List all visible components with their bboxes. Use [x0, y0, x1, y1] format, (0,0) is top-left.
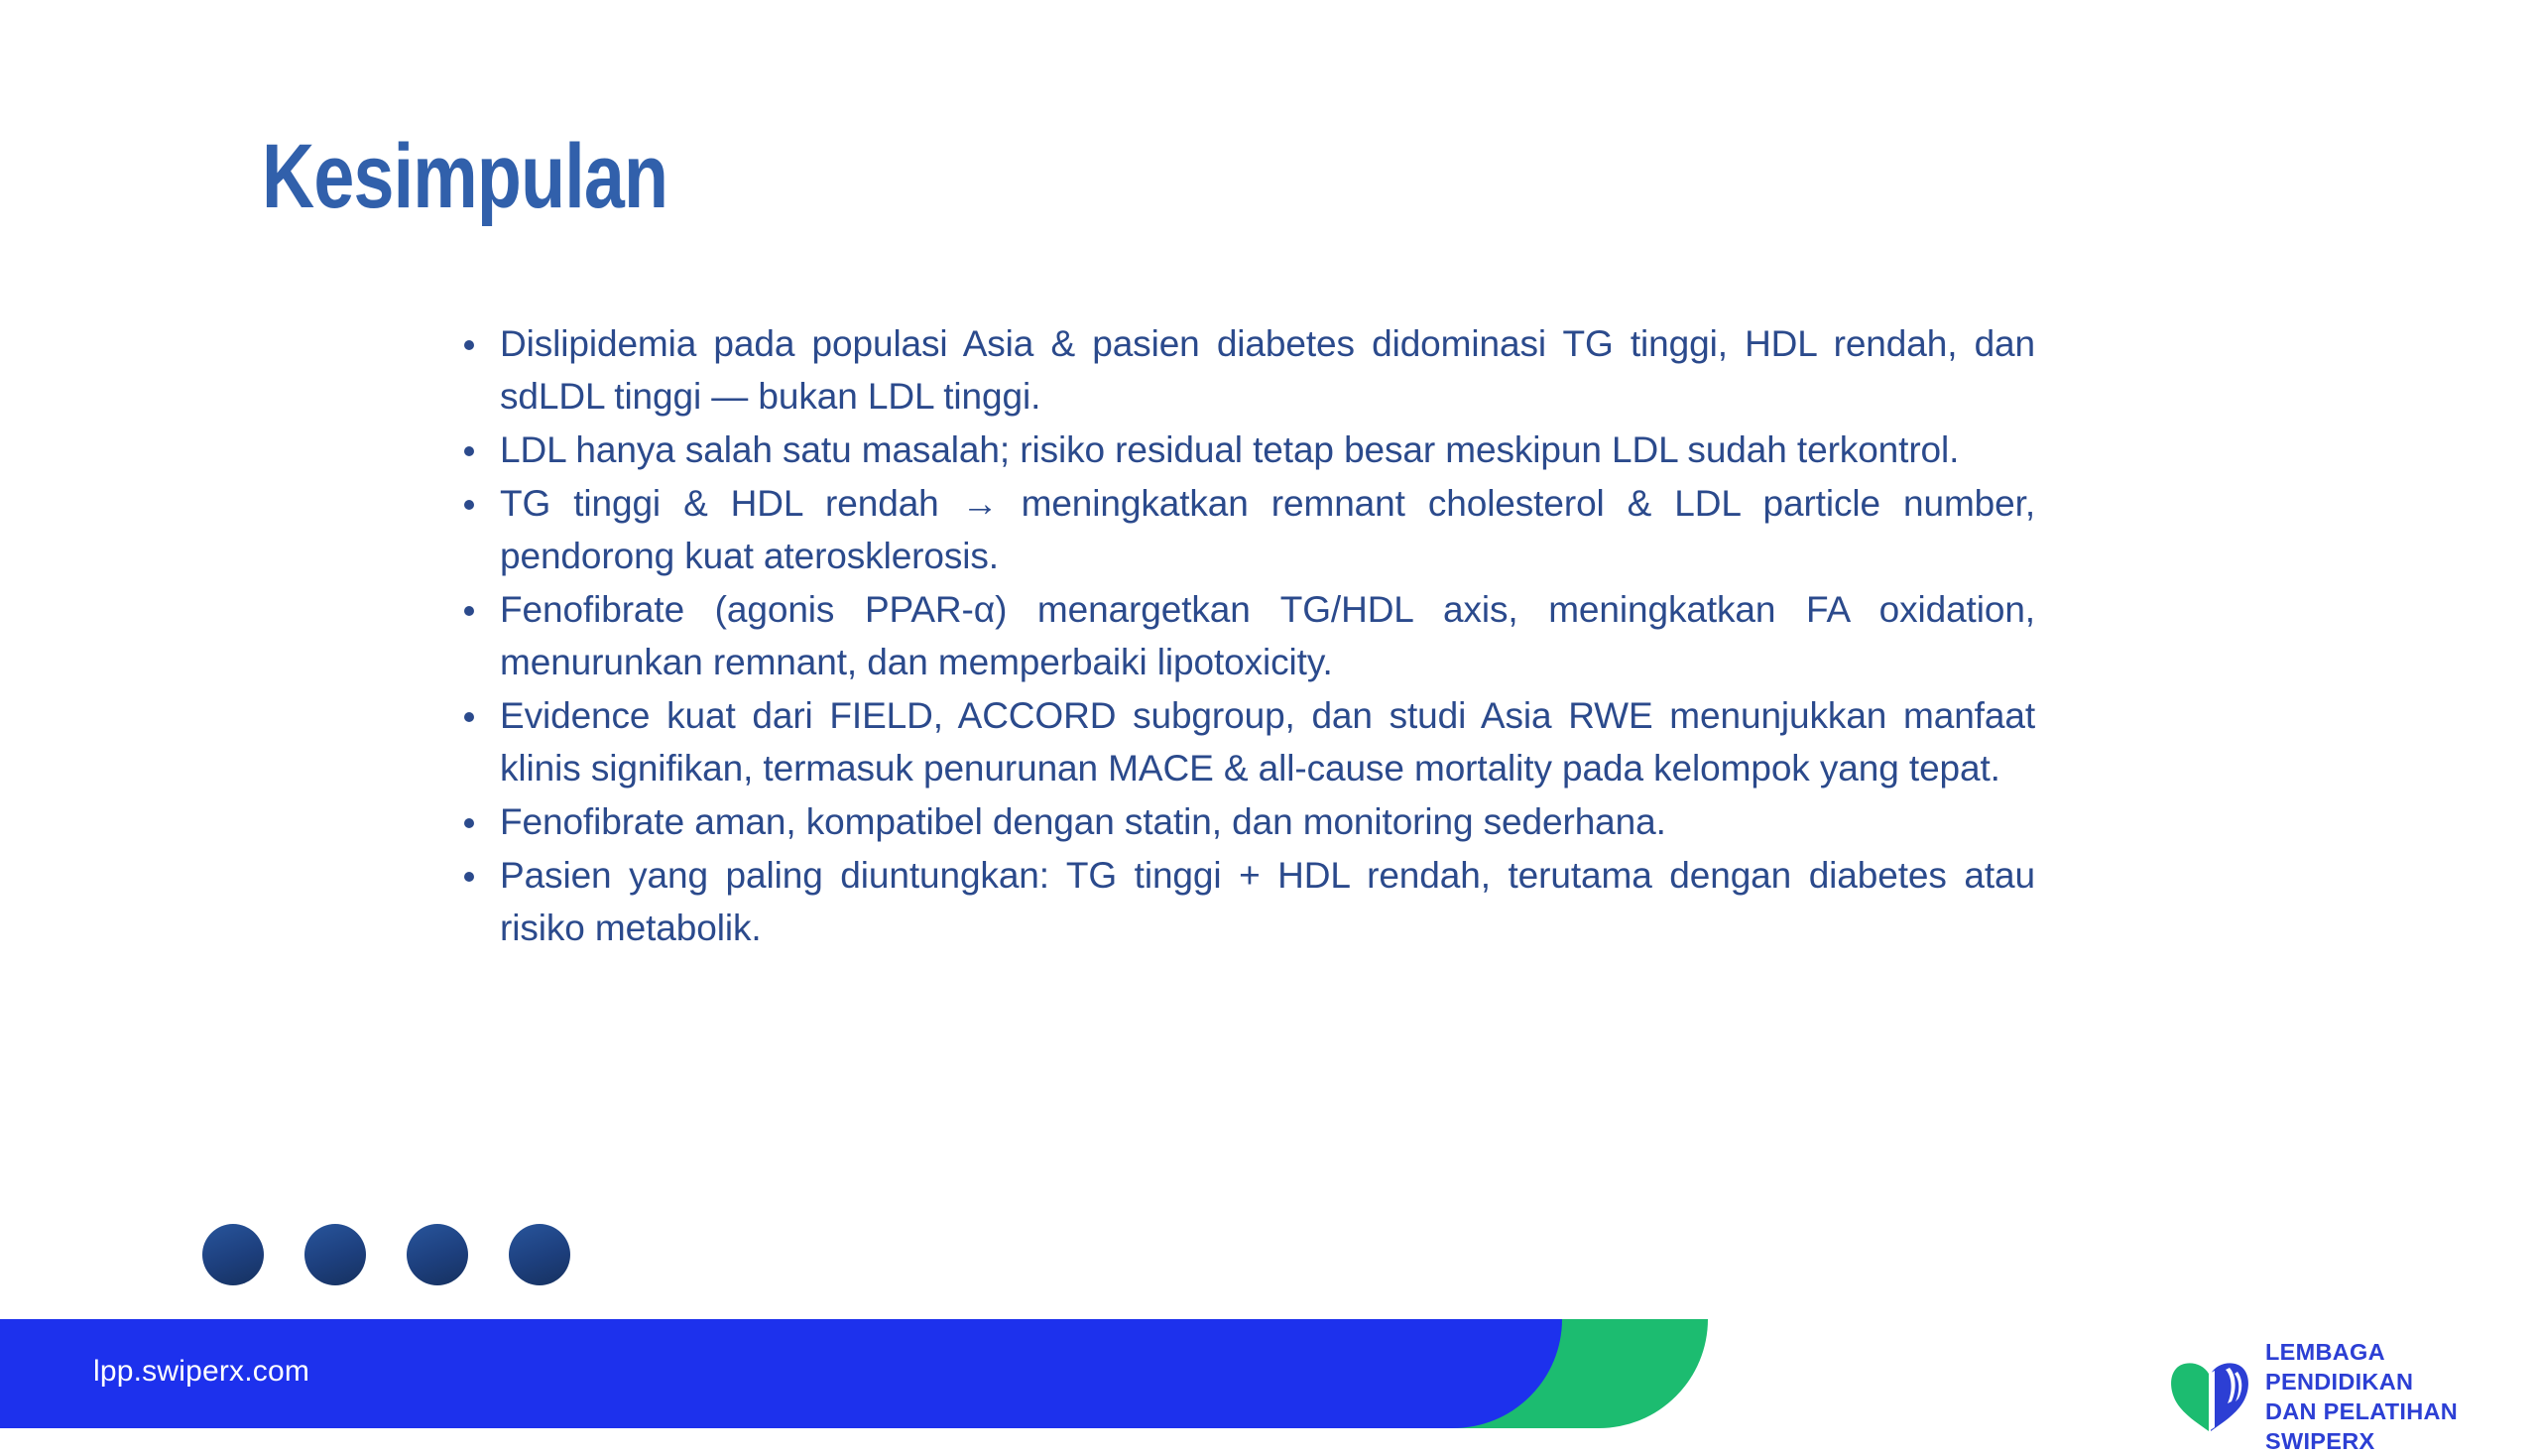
list-item-text: Evidence kuat dari FIELD, ACCORD subgrou… [500, 695, 2035, 789]
list-item: Evidence kuat dari FIELD, ACCORD subgrou… [448, 689, 2035, 794]
list-item-text: Fenofibrate (agonis PPAR-α) menargetkan … [500, 589, 2035, 682]
list-item-text: Dislipidemia pada populasi Asia & pasien… [500, 323, 2035, 417]
list-item: Fenofibrate (agonis PPAR-α) menargetkan … [448, 583, 2035, 688]
footer-bar: lpp.swiperx.com [0, 1319, 2539, 1428]
logo-line-1: LEMBAGA PENDIDIKAN [2265, 1337, 2539, 1396]
list-item-text: TG tinggi & HDL rendah → meningkatkan re… [500, 483, 2035, 576]
list-item: TG tinggi & HDL rendah → meningkatkan re… [448, 477, 2035, 582]
list-item: LDL hanya salah satu masalah; risiko res… [448, 424, 2035, 476]
decorative-dot [202, 1224, 264, 1285]
decorative-dots [202, 1224, 570, 1285]
decorative-dot [509, 1224, 570, 1285]
page-title: Kesimpulan [262, 127, 667, 227]
list-item: Dislipidemia pada populasi Asia & pasien… [448, 317, 2035, 423]
list-item-text: Fenofibrate aman, kompatibel dengan stat… [500, 801, 1666, 842]
book-heart-logo-icon [2168, 1358, 2251, 1435]
decorative-dot [304, 1224, 366, 1285]
list-item-text: Pasien yang paling diuntungkan: TG tingg… [500, 855, 2035, 948]
decorative-dot [407, 1224, 468, 1285]
logo-line-2: DAN PELATIHAN SWIPERX [2265, 1396, 2539, 1456]
footer-website-url: lpp.swiperx.com [93, 1355, 309, 1389]
list-item: Pasien yang paling diuntungkan: TG tingg… [448, 849, 2035, 954]
list-item: Fenofibrate aman, kompatibel dengan stat… [448, 795, 2035, 848]
list-item-text: LDL hanya salah satu masalah; risiko res… [500, 429, 1959, 470]
brand-logo: LEMBAGA PENDIDIKAN DAN PELATIHAN SWIPERX [2168, 1337, 2539, 1456]
conclusion-bullet-list: Dislipidemia pada populasi Asia & pasien… [448, 317, 2035, 955]
slide-canvas: Kesimpulan Dislipidemia pada populasi As… [0, 0, 2539, 1428]
logo-wordmark: LEMBAGA PENDIDIKAN DAN PELATIHAN SWIPERX [2265, 1337, 2539, 1456]
